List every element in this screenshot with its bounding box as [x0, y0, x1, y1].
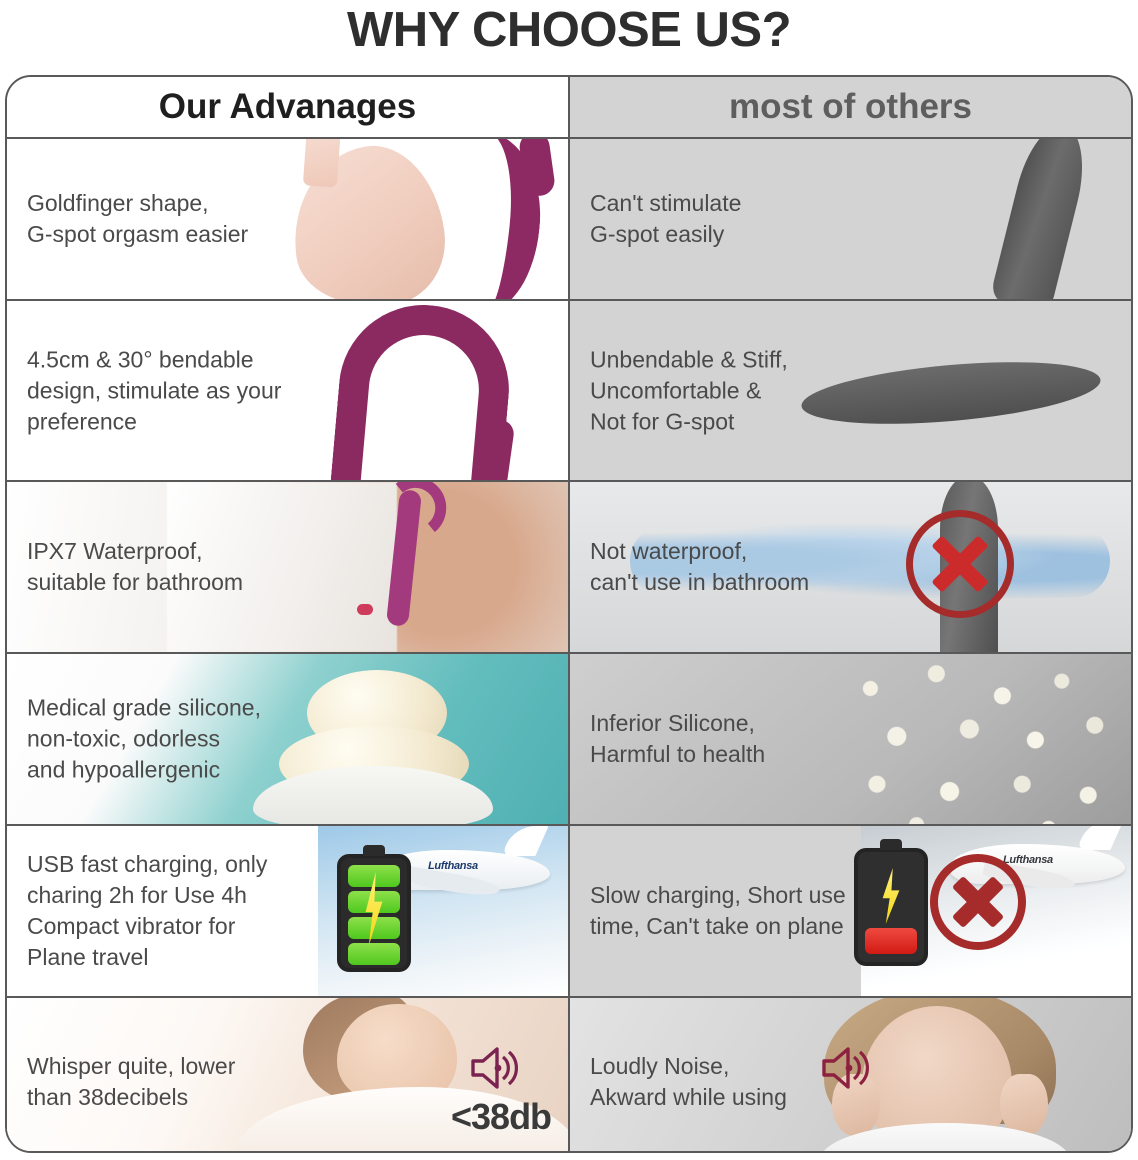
caption-others-charging: Slow charging, Short use time, Can't tak…	[590, 880, 846, 942]
table-row-bendable: 4.5cm & 30° bendable design, stimulate a…	[7, 299, 1131, 480]
cell-ours-goldfinger: Goldfinger shape, G-spot orgasm easier	[7, 139, 570, 299]
comparison-table: Our Advanages most of others Goldfinger …	[5, 75, 1133, 1153]
table-row-silicone: Medical grade silicone, non-toxic, odorl…	[7, 652, 1131, 824]
caption-ours-silicone: Medical grade silicone, non-toxic, odorl…	[27, 693, 261, 786]
cell-ours-silicone: Medical grade silicone, non-toxic, odorl…	[7, 654, 570, 824]
cell-others-waterproof: Not waterproof, can't use in bathroom	[570, 482, 1131, 652]
battery-low-icon	[854, 848, 928, 966]
cell-others-silicone: Inferior Silicone, Harmful to health	[570, 654, 1131, 824]
table-header-row: Our Advanages most of others	[7, 77, 1131, 137]
page-title: WHY CHOOSE US?	[0, 0, 1138, 66]
red-cross-icon	[930, 854, 1026, 950]
red-cross-icon	[906, 510, 1014, 618]
cell-others-noise: Loudly Noise, Akward while using	[570, 998, 1131, 1153]
cell-others-bendable: Unbendable & Stiff, Uncomfortable & Not …	[570, 301, 1131, 480]
comparison-infographic: WHY CHOOSE US? Our Advanages most of oth…	[0, 0, 1138, 1160]
header-label-ours: Our Advanages	[7, 87, 568, 127]
table-row-noise: <38db Whisper quite, lower than 38decibe…	[7, 996, 1131, 1153]
cell-others-charging: Lufthansa Slow charging, Short use time,…	[570, 826, 1131, 996]
battery-full-icon	[337, 854, 411, 972]
lightning-bolt-icon-dim	[880, 868, 902, 924]
caption-others-noise: Loudly Noise, Akward while using	[590, 1051, 787, 1113]
cell-ours-charging: Lufthansa USB fast charging, only charin…	[7, 826, 570, 996]
header-cell-ours: Our Advanages	[7, 77, 570, 137]
caption-others-waterproof: Not waterproof, can't use in bathroom	[590, 536, 809, 598]
decibel-badge: <38db	[451, 1096, 551, 1138]
caption-ours-waterproof: IPX7 Waterproof, suitable for bathroom	[27, 536, 243, 598]
header-cell-others: most of others	[570, 77, 1131, 137]
cell-ours-bendable: 4.5cm & 30° bendable design, stimulate a…	[7, 301, 570, 480]
cell-ours-waterproof: IPX7 Waterproof, suitable for bathroom	[7, 482, 570, 652]
caption-others-silicone: Inferior Silicone, Harmful to health	[590, 708, 765, 770]
cell-ours-noise: <38db Whisper quite, lower than 38decibe…	[7, 998, 570, 1153]
table-row-charging: Lufthansa USB fast charging, only charin…	[7, 824, 1131, 996]
airline-label: Lufthansa	[428, 860, 478, 872]
caption-ours-goldfinger: Goldfinger shape, G-spot orgasm easier	[27, 188, 248, 250]
speaker-quiet-icon	[467, 1044, 527, 1097]
caption-others-goldfinger: Can't stimulate G-spot easily	[590, 188, 741, 250]
table-row-goldfinger: Goldfinger shape, G-spot orgasm easier C…	[7, 137, 1131, 299]
table-row-waterproof: IPX7 Waterproof, suitable for bathroom N…	[7, 480, 1131, 652]
caption-others-bendable: Unbendable & Stiff, Uncomfortable & Not …	[590, 344, 788, 437]
caption-ours-noise: Whisper quite, lower than 38decibels	[27, 1051, 235, 1113]
caption-ours-bendable: 4.5cm & 30° bendable design, stimulate a…	[27, 344, 281, 437]
cell-others-goldfinger: Can't stimulate G-spot easily	[570, 139, 1131, 299]
caption-ours-charging: USB fast charging, only charing 2h for U…	[27, 849, 267, 973]
header-label-others: most of others	[570, 87, 1131, 127]
speaker-loud-icon	[818, 1044, 878, 1097]
